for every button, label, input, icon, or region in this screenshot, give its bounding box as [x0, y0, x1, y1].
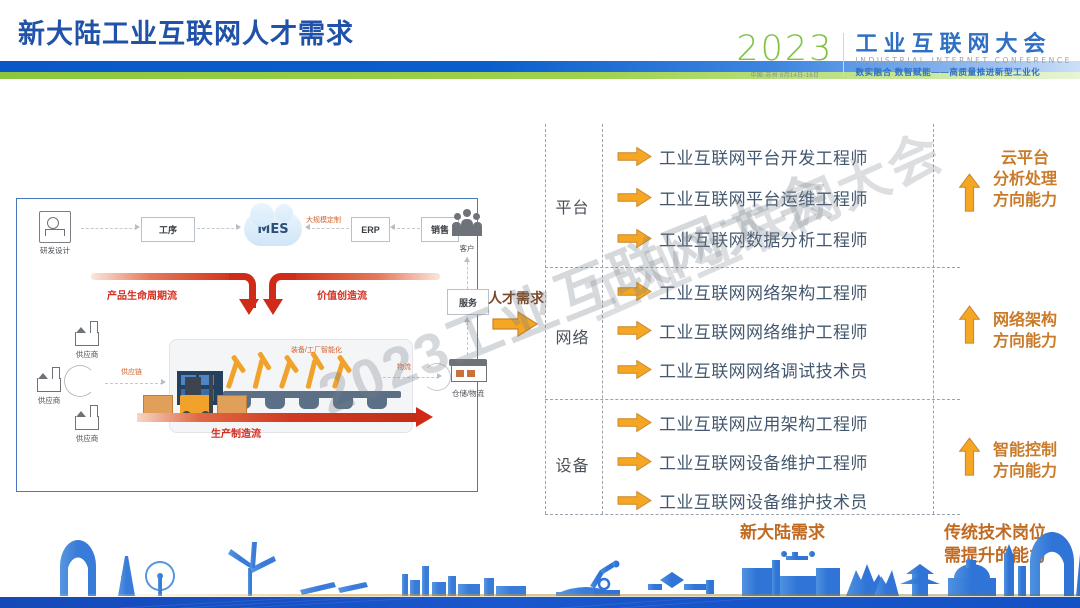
job-row-platform-1[interactable]: 工业互联网平台开发工程师 — [617, 144, 868, 169]
logo-tagline: 数实融合 数智赋能——高质量推进新型工业化 — [855, 66, 1072, 78]
label-supply-chain: 供应链 — [121, 367, 142, 377]
supplier-factory-1 — [75, 321, 99, 346]
node-mes-label: MES — [257, 222, 288, 237]
warehouse-icon — [449, 359, 487, 385]
logo-year-block: 2023 中国·苏州 8月14日-16日 — [736, 32, 843, 79]
capability-line: 网络架构 — [975, 310, 1075, 331]
logo-year: 2023 — [736, 32, 833, 67]
category-network: 网络 — [545, 324, 600, 348]
node-erp: ERP — [351, 217, 390, 242]
arrow-right-icon — [617, 412, 652, 433]
job-title: 工业互联网网络架构工程师 — [659, 279, 868, 304]
talent-demand-arrow-icon — [492, 310, 538, 338]
supplier-factory-3 — [75, 405, 99, 430]
jobs-matrix: 平台 工业互联网平台开发工程师 工业互联网平台运维工程师 工业互联网数据分析工程… — [545, 124, 960, 514]
arrow-right-icon — [617, 187, 652, 208]
matrix-hline-1 — [545, 267, 960, 268]
arrow-right-icon — [617, 281, 652, 302]
conveyor-base — [223, 391, 401, 398]
node-mes: MES — [244, 212, 302, 246]
arrow-right-icon — [617, 146, 652, 167]
flow-label-lifecycle: 产品生命周期流 — [107, 287, 177, 302]
job-row-platform-3[interactable]: 工业互联网数据分析工程师 — [617, 226, 868, 251]
dash-arrow-7 — [464, 317, 470, 322]
job-row-network-1[interactable]: 工业互联网网络架构工程师 — [617, 279, 868, 304]
bottom-label-right-line: 需提升的能力 — [944, 544, 1046, 567]
arrow-right-icon — [617, 490, 652, 511]
dash-arrow-5 — [161, 379, 166, 385]
conveyor-leg-5 — [367, 398, 387, 409]
category-platform: 平台 — [545, 194, 600, 218]
bottom-label-left: 新大陆需求 — [740, 521, 825, 544]
factory-value-chain-diagram: 研发设计 工序 MES 大规模定制 ERP 销售 供应商 供应商 供应商 — [16, 198, 478, 492]
job-title: 工业互联网网络调试技术员 — [659, 357, 868, 382]
job-title: 工业互联网设备维护工程师 — [659, 449, 868, 474]
arrow-right-icon — [617, 320, 652, 341]
node-process: 工序 — [141, 217, 195, 242]
forklift-cab — [185, 377, 201, 395]
node-label-supplier1: 供应商 — [67, 349, 107, 360]
label-smart-factory: 装备/工厂智能化 — [291, 345, 342, 355]
job-row-network-2[interactable]: 工业互联网网络维护工程师 — [617, 318, 868, 343]
capability-equipment: 智能控制 方向能力 — [975, 440, 1075, 482]
bottom-label-right-line: 传统技术岗位 — [944, 521, 1046, 544]
logo-divider — [843, 33, 844, 77]
bottom-label-right: 传统技术岗位 需提升的能力 — [944, 521, 1046, 567]
capability-line: 分析处理 — [975, 169, 1075, 190]
matrix-hline-2 — [545, 399, 960, 400]
forklift-mast — [209, 375, 213, 417]
capability-network: 网络架构 方向能力 — [975, 310, 1075, 352]
footer-skyline — [0, 518, 1080, 608]
supplier-loop-circle — [64, 365, 96, 397]
conveyor-leg-4 — [333, 398, 353, 409]
lifecycle-flow-arrow — [239, 299, 259, 315]
conference-logo: 2023 中国·苏州 8月14日-16日 工业互联网大会 INDUSTRIAL … — [736, 26, 1072, 84]
node-label-supplier3: 供应商 — [67, 433, 107, 444]
arrow-right-icon — [617, 359, 652, 380]
capability-line: 智能控制 — [975, 440, 1075, 461]
logistics-loop-circle — [423, 363, 451, 391]
conveyor-leg-2 — [265, 398, 285, 409]
job-row-network-3[interactable]: 工业互联网网络调试技术员 — [617, 357, 868, 382]
production-flow-bar — [137, 413, 417, 422]
value-flow-arrow — [263, 299, 283, 315]
matrix-hline-3 — [545, 514, 960, 515]
dash-mes-erp — [307, 228, 349, 230]
job-title: 工业互联网网络维护工程师 — [659, 318, 868, 343]
sea-lines — [120, 598, 760, 608]
slide-root: 新大陆工业互联网人才需求 2023 中国·苏州 8月14日-16日 工业互联网大… — [0, 0, 1080, 608]
logo-name-block: 工业互联网大会 INDUSTRIAL INTERNET CONFERENCE 数… — [855, 32, 1072, 78]
dash-process-mes — [197, 228, 239, 230]
talent-demand-label: 人才需求 — [488, 288, 544, 308]
dash-arrow-4 — [390, 224, 395, 230]
node-label-rd: 研发设计 — [31, 245, 79, 256]
capability-line: 方向能力 — [975, 190, 1075, 211]
dash-arrow-6 — [464, 257, 470, 262]
node-label-warehouse: 仓储/物流 — [439, 388, 497, 399]
capability-line: 方向能力 — [975, 461, 1075, 482]
conveyor-leg-3 — [299, 398, 319, 409]
job-title: 工业互联网数据分析工程师 — [659, 226, 868, 251]
dash-rd-process — [81, 228, 137, 230]
node-service: 服务 — [447, 289, 489, 315]
customer-icon — [451, 209, 483, 239]
node-label-customer: 客户 — [445, 243, 489, 254]
matrix-vline-mid — [602, 124, 603, 514]
arrow-right-icon — [617, 228, 652, 249]
rd-icon — [39, 211, 71, 243]
dash-arrow-1 — [135, 224, 140, 230]
job-title: 工业互联网设备维护技术员 — [659, 488, 868, 513]
page-title: 新大陆工业互联网人才需求 — [18, 18, 354, 51]
job-title: 工业互联网平台开发工程师 — [659, 144, 868, 169]
logo-name-cn: 工业互联网大会 — [855, 32, 1072, 56]
lifecycle-flow-bar — [91, 273, 241, 280]
flow-label-manufacture: 生产制造流 — [211, 425, 261, 440]
job-row-equipment-1[interactable]: 工业互联网应用架构工程师 — [617, 410, 868, 435]
dash-arrow-3 — [305, 224, 310, 230]
capability-line: 云平台 — [975, 148, 1075, 169]
node-label-supplier2: 供应商 — [29, 395, 69, 406]
job-row-platform-2[interactable]: 工业互联网平台运维工程师 — [617, 185, 868, 210]
job-row-equipment-2[interactable]: 工业互联网设备维护工程师 — [617, 449, 868, 474]
dash-erp-sales — [392, 228, 420, 230]
logo-date: 中国·苏州 8月14日-16日 — [750, 70, 819, 79]
value-flow-bar — [285, 273, 440, 280]
logo-name-en: INDUSTRIAL INTERNET CONFERENCE — [855, 56, 1072, 66]
capability-platform: 云平台 分析处理 方向能力 — [975, 148, 1075, 211]
flow-label-value: 价值创造流 — [317, 287, 367, 302]
slide-header: 新大陆工业互联网人才需求 2023 中国·苏州 8月14日-16日 工业互联网大… — [0, 0, 1080, 92]
dash-supplier-plant — [105, 383, 163, 385]
label-logistics: 物流 — [397, 362, 411, 372]
matrix-vline-right — [933, 124, 934, 514]
dash-arrow-2 — [236, 224, 241, 230]
skyline-shapes-left — [60, 540, 618, 596]
arrow-right-icon — [617, 451, 652, 472]
production-flow-arrow — [416, 407, 433, 427]
job-title: 工业互联网应用架构工程师 — [659, 410, 868, 435]
job-title: 工业互联网平台运维工程师 — [659, 185, 868, 210]
capability-line: 方向能力 — [975, 331, 1075, 352]
job-row-equipment-3[interactable]: 工业互联网设备维护技术员 — [617, 488, 868, 513]
dash-service-warehouse — [467, 317, 469, 355]
label-mass-custom: 大规模定制 — [306, 215, 341, 225]
supplier-factory-2 — [37, 367, 61, 392]
category-equipment: 设备 — [545, 452, 600, 476]
